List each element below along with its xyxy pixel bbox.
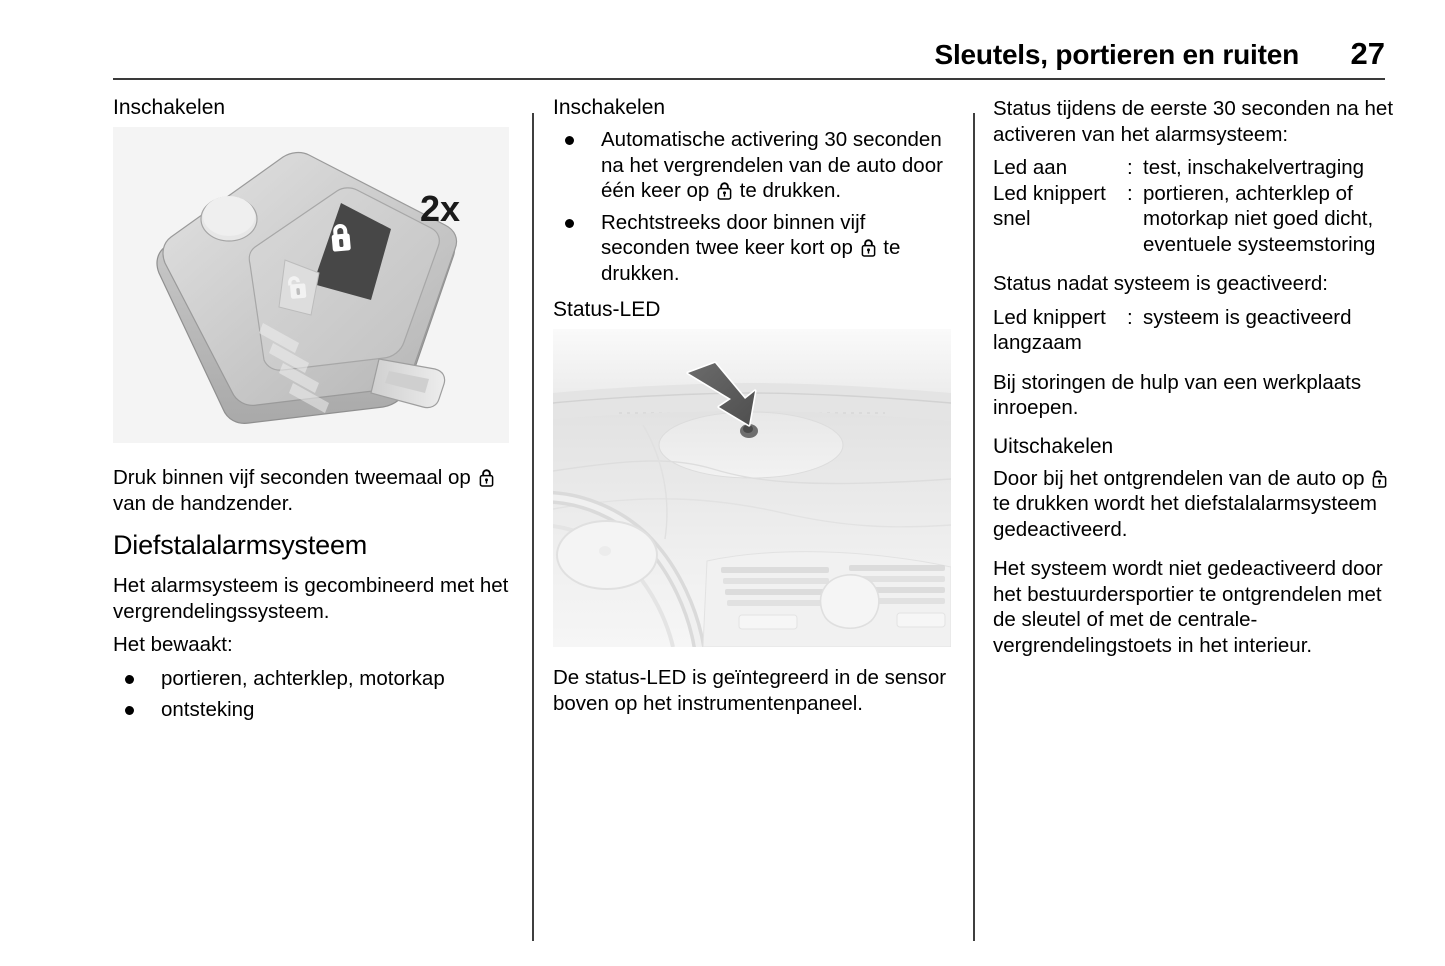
- status-description: systeem is geactiveerd: [1143, 305, 1395, 356]
- status-first30-table: Led aan : test, inschakelvertraging Led …: [993, 155, 1395, 257]
- status-colon: :: [1127, 181, 1143, 258]
- alarm-paragraph-2: Het bewaakt:: [113, 632, 515, 658]
- console-knob[interactable]: [821, 575, 879, 628]
- column-divider-2: [973, 113, 975, 941]
- column-3: Status tijdens de eerste 30 seconden na …: [993, 96, 1395, 672]
- uitschakelen-heading: Uitschakelen: [993, 435, 1395, 459]
- padlock-closed-icon: [716, 181, 733, 200]
- center-console-vents: [703, 552, 951, 647]
- padlock-closed-icon: [860, 238, 877, 257]
- table-row: Led aan : test, inschakelvertraging: [993, 155, 1395, 181]
- table-row: Led knippert langzaam : systeem is geact…: [993, 305, 1395, 356]
- status-colon: :: [1127, 305, 1143, 356]
- key-fob-caption-after: van de handzender.: [113, 492, 293, 515]
- column2-heading: Inschakelen: [553, 96, 955, 120]
- header-rule: [113, 78, 1385, 80]
- deactivation-note-paragraph: Het systeem wordt niet gedeactiveerd doo…: [993, 556, 1395, 658]
- padlock-open-icon: [1371, 469, 1388, 488]
- list-item: Rechtstreeks door binnen vijf seconden t…: [553, 210, 955, 287]
- deactivation-text-before: Door bij het ontgrendelen van de auto op: [993, 467, 1370, 490]
- instrument-cluster: [557, 521, 657, 589]
- status-after-activation-intro: Status nadat systeem is geactiveerd:: [993, 271, 1395, 297]
- status-first30-intro: Status tijdens de eerste 30 seconden na …: [993, 96, 1395, 147]
- alarm-monitored-list: portieren, achterklep, motorkap ontsteki…: [113, 666, 515, 723]
- page-title: Sleutels, portieren en ruiten: [934, 39, 1299, 71]
- column-divider-1: [532, 113, 534, 941]
- page-header: Sleutels, portieren en ruiten 27: [113, 36, 1385, 80]
- activation-methods-list: Automatische activering 30 seconden na h…: [553, 127, 955, 286]
- status-description: portieren, achterklep of motorkap niet g…: [1143, 181, 1395, 258]
- activation-bullet-2-before: Rechtstreeks door binnen vijf seconden t…: [601, 211, 865, 260]
- status-led-caption: De status-LED is geïntegreerd in de sens…: [553, 665, 955, 716]
- status-led-heading: Status-LED: [553, 298, 955, 322]
- column-1: Inschakelen: [113, 96, 515, 735]
- fault-paragraph: Bij storingen de hulp van een werkplaats…: [993, 370, 1395, 421]
- status-description: test, inschakelvertraging: [1143, 155, 1395, 181]
- deactivation-paragraph: Door bij het ontgrendelen van de auto op…: [993, 466, 1395, 543]
- key-fob-release-button-top: [203, 196, 255, 236]
- alarm-paragraph-1: Het alarmsysteem is gecombineerd met het…: [113, 573, 515, 624]
- key-fob-caption: Druk binnen vijf seconden tweemaal op va…: [113, 465, 515, 516]
- key-fob-figure: 2x: [113, 127, 509, 443]
- column-2: Inschakelen Automatische activering 30 s…: [553, 96, 955, 730]
- status-term: Led knippert snel: [993, 181, 1127, 258]
- list-item: Automatische activering 30 seconden na h…: [553, 127, 955, 204]
- deactivation-text-after: te drukken wordt het diefstalalarmsystee…: [993, 492, 1377, 541]
- activation-bullet-1-after: te drukken.: [734, 179, 841, 202]
- table-row: Led knippert snel : portieren, achterkle…: [993, 181, 1395, 258]
- press-count-badge: 2x: [420, 188, 460, 229]
- status-after-activation-table: Led knippert langzaam : systeem is geact…: [993, 305, 1395, 356]
- column1-heading: Inschakelen: [113, 96, 515, 120]
- padlock-closed-icon: [478, 468, 495, 487]
- key-fob-caption-before: Druk binnen vijf seconden tweemaal op: [113, 466, 477, 489]
- page-number: 27: [1333, 36, 1385, 72]
- diefstalalarmsysteem-heading: Diefstalalarmsysteem: [113, 530, 515, 561]
- status-term: Led knippert langzaam: [993, 305, 1127, 356]
- list-item: portieren, achterklep, motorkap: [113, 666, 515, 692]
- content-columns: Inschakelen: [113, 96, 1385, 926]
- status-colon: :: [1127, 155, 1143, 181]
- dashboard-figure: [553, 329, 951, 647]
- list-item: ontsteking: [113, 697, 515, 723]
- status-term: Led aan: [993, 155, 1127, 181]
